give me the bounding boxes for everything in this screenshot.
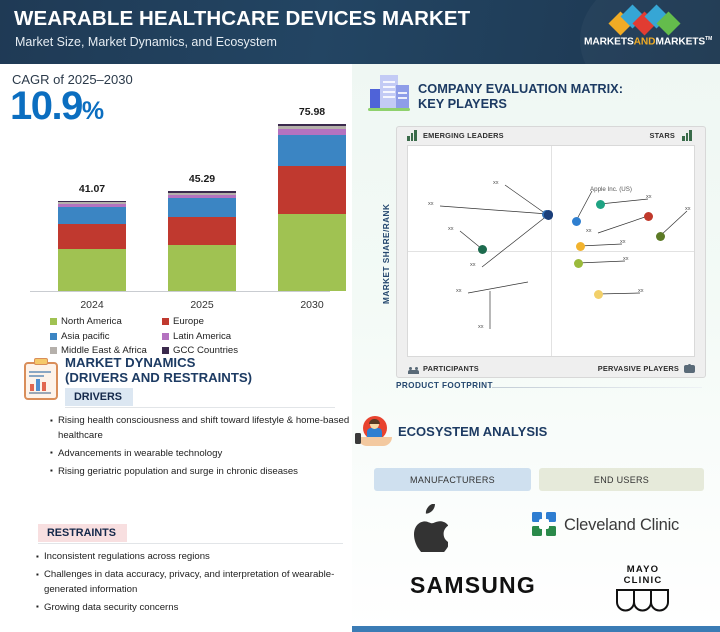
restraint-item: Growing data security concerns — [36, 601, 348, 616]
legend-label: North America — [61, 316, 122, 327]
matrix-company-label: xx — [646, 194, 652, 200]
office-building-icon — [366, 72, 412, 112]
market-dynamics-title: MARKET DYNAMICS (DRIVERS AND RESTRAINTS) — [65, 356, 252, 385]
mayo-clinic-line2: CLINIC — [608, 575, 678, 586]
legend-swatch — [162, 347, 169, 354]
mayo-clinic-logo: MAYO CLINIC — [608, 564, 678, 619]
logo-tm: TM — [705, 36, 712, 42]
chart-axis-line — [30, 291, 330, 292]
bar-segment-asia-pacific — [278, 135, 346, 167]
footer-accent-bar — [352, 626, 720, 632]
legend-swatch — [162, 318, 169, 325]
bar-total-label: 45.29 — [168, 173, 236, 185]
bar-segment-asia-pacific — [58, 207, 126, 224]
tab-end-users[interactable]: END USERS — [539, 468, 704, 491]
matrix-company-dot[interactable] — [644, 212, 653, 221]
legend-swatch — [162, 333, 169, 340]
matrix-company-label: xx — [620, 239, 626, 245]
market-size-bar-chart: 41.07202445.29202575.982030 — [0, 78, 352, 318]
matrix-company-label: xx — [638, 288, 644, 294]
ecosystem-analysis-section: ECOSYSTEM ANALYSIS MANUFACTURERS END USE… — [352, 416, 720, 632]
samsung-logo: SAMSUNG — [410, 572, 536, 599]
bar-total-label: 41.07 — [58, 183, 126, 195]
stars-chart-icon — [682, 130, 695, 141]
left-column: CAGR of 2025–2030 10.9% 41.07202445.2920… — [0, 64, 352, 632]
matrix-company-dot[interactable] — [576, 242, 585, 251]
restraint-item: Inconsistent regulations across regions — [36, 550, 348, 565]
driver-item: Advancements in wearable technology — [50, 447, 350, 462]
bar-segment-europe — [278, 166, 346, 214]
clipboard-chart-icon — [22, 358, 60, 400]
cem-title-line2: KEY PLAYERS — [418, 97, 623, 112]
legend-row: North AmericaEurope — [50, 316, 320, 327]
cleveland-clinic-wordmark: Cleveland Clinic — [564, 516, 679, 535]
legend-swatch — [50, 333, 57, 340]
bar-x-label: 2024 — [58, 299, 126, 311]
matrix-company-label: xx — [470, 262, 476, 268]
quadrant-label-emerging-leaders: EMERGING LEADERS — [423, 131, 504, 140]
quadrant-label-pervasive-players: PERVASIVE PLAYERS — [598, 364, 679, 373]
quadrant-label-stars: STARS — [650, 131, 676, 140]
legend-label: Latin America — [173, 331, 231, 342]
logo-text-b: MARKETS — [655, 36, 705, 47]
chart-legend: North AmericaEuropeAsia pacificLatin Ame… — [50, 316, 320, 360]
legend-swatch — [50, 347, 57, 354]
person-in-hand-icon — [356, 416, 396, 450]
matrix-company-label: xx — [493, 180, 499, 186]
matrix-company-label: xx — [478, 324, 484, 330]
mayo-clinic-line1: MAYO — [608, 564, 678, 575]
participants-group-icon — [407, 363, 420, 374]
market-dynamics-title-line1: MARKET DYNAMICS — [65, 356, 252, 371]
matrix-company-dot[interactable] — [544, 211, 553, 220]
matrix-company-dot[interactable] — [572, 217, 581, 226]
driver-item: Rising health consciousness and shift to… — [50, 414, 350, 443]
logo-text-a: MARKETS — [584, 36, 634, 47]
restraints-badge: RESTRAINTS — [38, 524, 127, 542]
company-evaluation-matrix-title: COMPANY EVALUATION MATRIX: KEY PLAYERS — [418, 82, 623, 111]
legend-swatch — [50, 318, 57, 325]
driver-item: Rising geriatric population and surge in… — [50, 465, 350, 480]
tab-manufacturers[interactable]: MANUFACTURERS — [374, 468, 531, 491]
matrix-company-dot[interactable] — [596, 200, 605, 209]
pervasive-players-puzzle-icon — [684, 363, 697, 374]
matrix-company-dot[interactable] — [656, 232, 665, 241]
bar-group: 75.982030 — [278, 124, 346, 291]
quadrant-label-participants: PARTICIPANTS — [423, 364, 479, 373]
bar-segment-europe — [58, 224, 126, 250]
bar-group: 45.292025 — [168, 191, 236, 291]
bar-segment-europe — [168, 217, 236, 245]
logo-wordmark: MARKETSANDMARKETSTM — [584, 36, 706, 47]
stacked-bar — [278, 124, 346, 291]
matrix-company-label: xx — [586, 228, 592, 234]
marketsandmarkets-logo: MARKETSANDMARKETSTM — [584, 9, 706, 55]
matrix-x-axis-label: PRODUCT FOOTPRINT — [396, 381, 493, 390]
mayo-clinic-shield-icon — [615, 588, 671, 614]
drivers-badge: DRIVERS — [65, 388, 133, 406]
bar-segment-asia-pacific — [168, 198, 236, 217]
restraints-divider — [38, 543, 343, 544]
matrix-frame: EMERGING LEADERS STARS PARTICIPANTS PERV… — [396, 126, 706, 378]
matrix-company-label: xx — [685, 206, 691, 212]
legend-item-europe: Europe — [162, 316, 204, 327]
bar-segment-north-america — [58, 249, 126, 291]
logo-text-and: AND — [634, 36, 656, 47]
page-header: WEARABLE HEALTHCARE DEVICES MARKET Marke… — [0, 0, 720, 64]
drivers-list: Rising health consciousness and shift to… — [50, 414, 350, 483]
stacked-bar — [58, 201, 126, 291]
cleveland-clinic-icon — [532, 512, 558, 538]
matrix-company-label: xx — [448, 226, 454, 232]
drivers-divider — [65, 407, 335, 408]
right-column: COMPANY EVALUATION MATRIX: KEY PLAYERS M… — [352, 64, 720, 632]
restraint-item: Challenges in data accuracy, privacy, an… — [36, 568, 348, 597]
matrix-company-label: xx — [428, 201, 434, 207]
stacked-bar — [168, 191, 236, 291]
ecosystem-analysis-title: ECOSYSTEM ANALYSIS — [398, 424, 547, 439]
page-title: WEARABLE HEALTHCARE DEVICES MARKET — [14, 7, 470, 31]
evaluation-matrix: MARKET SHARE/RANK EMERGING LEADERS STARS… — [382, 126, 706, 394]
matrix-y-axis-label: MARKET SHARE/RANK — [382, 184, 394, 324]
market-dynamics-title-line2: (DRIVERS AND RESTRAINTS) — [65, 371, 252, 386]
bar-total-label: 75.98 — [278, 106, 346, 118]
restraints-list: Inconsistent regulations across regionsC… — [36, 550, 348, 619]
infographic-page: WEARABLE HEALTHCARE DEVICES MARKET Marke… — [0, 0, 720, 632]
bar-segment-north-america — [168, 245, 236, 291]
logo-diamonds-icon — [584, 9, 706, 35]
legend-label: Europe — [173, 316, 204, 327]
matrix-connector-lines — [408, 146, 694, 356]
legend-row: Asia pacificLatin America — [50, 331, 320, 342]
page-subtitle: Market Size, Market Dynamics, and Ecosys… — [15, 35, 277, 49]
matrix-company-dot[interactable] — [594, 290, 603, 299]
matrix-company-dot[interactable] — [478, 245, 487, 254]
cem-title-line1: COMPANY EVALUATION MATRIX: — [418, 82, 623, 97]
matrix-company-dot[interactable] — [574, 259, 583, 268]
matrix-company-label-apple: Apple Inc. (US) — [590, 186, 632, 193]
matrix-company-label: xx — [623, 256, 629, 262]
cleveland-clinic-logo: Cleveland Clinic — [532, 512, 679, 538]
matrix-x-axis-line — [492, 387, 702, 388]
legend-item-asia-pacific: Asia pacific — [50, 331, 162, 342]
bar-x-label: 2030 — [278, 299, 346, 311]
emerging-leaders-chart-icon — [407, 130, 420, 141]
matrix-company-label: xx — [456, 288, 462, 294]
legend-item-north-america: North America — [50, 316, 162, 327]
apple-logo — [398, 504, 460, 554]
legend-label: Asia pacific — [61, 331, 110, 342]
bar-x-label: 2025 — [168, 299, 236, 311]
legend-item-latin-america: Latin America — [162, 331, 231, 342]
bar-group: 41.072024 — [58, 201, 126, 291]
matrix-plot-area: xxxxxxxxApple Inc. (US)xxxxxxxxxxxxxxxx — [407, 145, 695, 357]
bar-segment-north-america — [278, 214, 346, 291]
